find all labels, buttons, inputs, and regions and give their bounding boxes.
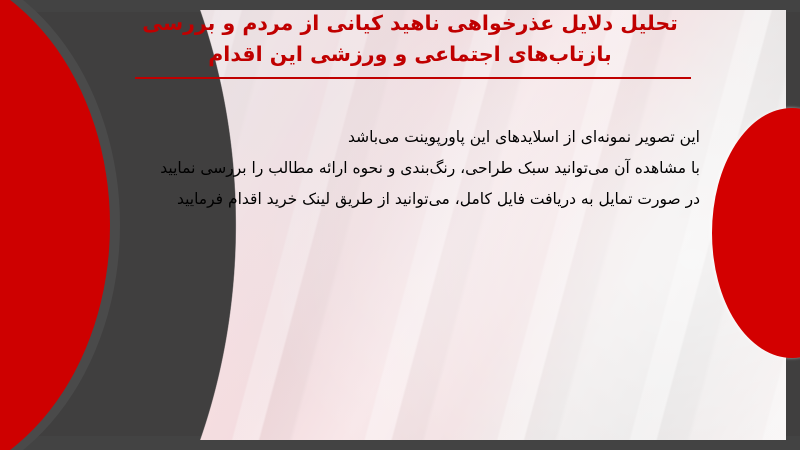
slide-content-panel — [14, 10, 786, 440]
background-stripe-pattern — [14, 10, 786, 440]
slide-title-line-1: تحلیل دلایل عذرخواهی ناهید کیانی از مردم… — [120, 8, 700, 39]
slide-body-line-1: این تصویر نمونه‌ای از اسلایدهای این پاور… — [80, 122, 700, 153]
slide-title-line-2: بازتاب‌های اجتماعی و ورزشی این اقدام — [120, 39, 700, 70]
slide-body-line-2: با مشاهده آن می‌توانید سبک طراحی، رنگ‌بن… — [80, 153, 700, 184]
background-sheen — [14, 10, 786, 440]
slide-body-text: این تصویر نمونه‌ای از اسلایدهای این پاور… — [80, 122, 700, 215]
slide-title: تحلیل دلایل عذرخواهی ناهید کیانی از مردم… — [120, 8, 700, 70]
slide-canvas: تحلیل دلایل عذرخواهی ناهید کیانی از مردم… — [0, 0, 800, 450]
slide-body-line-3: در صورت تمایل به دریافت فایل کامل، می‌تو… — [80, 184, 700, 215]
title-underline-rule — [135, 77, 691, 79]
